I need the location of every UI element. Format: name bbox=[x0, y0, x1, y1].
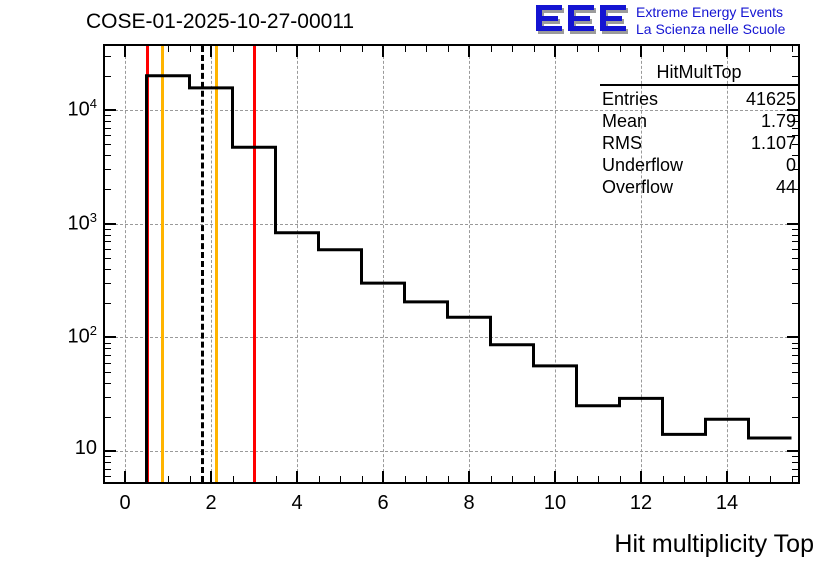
stats-value: 41625 bbox=[746, 88, 796, 110]
stats-row-entries: Entries41625 bbox=[600, 88, 798, 110]
root-canvas: COSE-01-2025-10-27-00011 bbox=[0, 0, 836, 572]
stats-key: RMS bbox=[602, 132, 642, 154]
x-axis-title: Hit multiplicity Top bbox=[614, 530, 814, 559]
stats-row-underflow: Underflow0 bbox=[600, 154, 798, 176]
stats-divider bbox=[600, 84, 798, 86]
stats-key: Entries bbox=[602, 88, 658, 110]
stats-key: Overflow bbox=[602, 176, 673, 198]
stats-rows: Entries41625Mean1.79RMS1.107Underflow0Ov… bbox=[600, 88, 798, 198]
stats-row-rms: RMS1.107 bbox=[600, 132, 798, 154]
stats-row-mean: Mean1.79 bbox=[600, 110, 798, 132]
stats-value: 44 bbox=[776, 176, 796, 198]
stats-key: Underflow bbox=[602, 154, 683, 176]
stats-value: 1.79 bbox=[761, 110, 796, 132]
stats-row-overflow: Overflow44 bbox=[600, 176, 798, 198]
stats-box: HitMultTop Entries41625Mean1.79RMS1.107U… bbox=[600, 62, 798, 198]
stats-value: 1.107 bbox=[751, 132, 796, 154]
stats-key: Mean bbox=[602, 110, 647, 132]
stats-value: 0 bbox=[786, 154, 796, 176]
stats-title: HitMultTop bbox=[600, 62, 798, 84]
